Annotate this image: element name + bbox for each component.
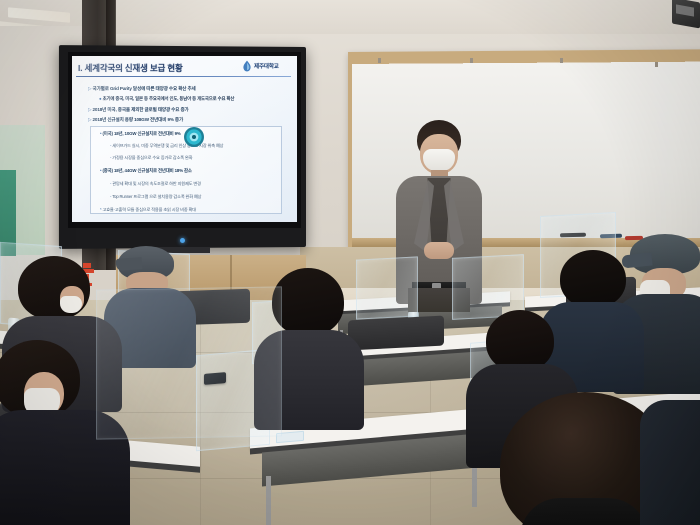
slide-bullet-text: 초기에 중국, 미국, 일본 등 주요국에서 인도, 동남아 등 개도국으로 수… — [103, 96, 235, 101]
bullet-marker-icon: ▷ — [88, 117, 91, 122]
slide-box-item: - 관망세 확대 및 시장의 속도조절로 하반 지원제도 변경 — [110, 181, 201, 187]
bullet-marker-icon: ▷ — [88, 107, 91, 112]
presenter-face-mask — [423, 149, 455, 171]
bullet-marker-icon: ▷ — [88, 86, 91, 91]
slide-box-item: - 세이프가드 실시, 미중 무역분쟁 및 금리 인상 등으로 시장 위축 예상 — [110, 143, 223, 149]
bullet-marker-icon: ● — [99, 96, 102, 101]
classroom-photo: I. 세계각국의 신재생 보급 현황 제주대학교 ▷ 국가별로 Grid Par… — [0, 0, 700, 525]
attendee-hair — [272, 268, 344, 336]
chair-back — [348, 315, 444, 350]
slide-box-item-text: (중국) 18년, 44GW 신규설치로 전년대비 18% 감소 — [102, 168, 191, 173]
slide-box-item-text: 세이프가드 실시, 미중 무역분쟁 및 금리 인상 등으로 시장 위축 예상 — [112, 143, 223, 148]
slide-bullet-text: 2018년 신규설치 용량 108GW 전년대비 9% 증가 — [93, 117, 184, 122]
university-logo: 제주대학교 — [242, 60, 290, 72]
donut-chart-graphic-icon — [183, 126, 205, 148]
slide-box-item-text: 가정용 시장을 중심으로 수요 증가로 감소폭 완화 — [112, 155, 192, 160]
slide-box-item: • (미국) 18년, 10GW 신규설치로 전년대비 9% — [100, 131, 181, 137]
slide-bullet-text: 2018년 미국, 중국을 제외한 글로벌 태양광 수요 증가 — [93, 107, 189, 112]
slide-bullet: ● 초기에 중국, 미국, 일본 등 주요국에서 인도, 동남아 등 개도국으로… — [99, 96, 234, 102]
slide-title-rule — [76, 76, 291, 77]
whiteboard-clip-icon — [470, 58, 473, 63]
attendee-face-mask — [60, 296, 82, 313]
jeju-university-mark-icon — [242, 60, 252, 72]
presenter-hands — [424, 242, 454, 259]
attendee-hair — [486, 310, 554, 372]
acrylic-desk-divider — [356, 256, 418, 319]
slide-box-item: - 가정용 시장을 중심으로 수요 증가로 감소폭 완화 — [110, 155, 192, 161]
whiteboard-clip-icon — [655, 62, 658, 67]
desk-leg — [266, 476, 271, 525]
slide-box-item-text: Top Runner 프로그램 으로 설치용량 감소폭 완화 예상 — [112, 194, 201, 199]
slide-box-item: * 고효율·고출력 모듈 중심으로 적용을 초읽 시장 비중 확대 — [100, 207, 196, 213]
slide-box-item-text: 관망세 확대 및 시장의 속도조절로 하반 지원제도 변경 — [112, 181, 201, 186]
display-power-led-icon[interactable] — [180, 238, 185, 243]
slide-bullet-text: 국가별로 Grid Parity 달성에 따른 태양광 수요 확산 추세 — [93, 86, 196, 91]
slide-bullet: ▷ 2018년 미국, 중국을 제외한 글로벌 태양광 수요 증가 — [88, 107, 189, 113]
acrylic-desk-divider — [96, 286, 282, 439]
slide-box-item-text: 고효율·고출력 모듈 중심으로 적용을 초읽 시장 비중 확대 — [103, 207, 197, 212]
university-logo-text: 제주대학교 — [254, 62, 279, 70]
slide-box-item: - Top Runner 프로그램 으로 설치용량 감소폭 완화 예상 — [110, 194, 201, 200]
whiteboard-clip-icon — [378, 58, 381, 63]
slide-box-item: • (중국) 18년, 44GW 신규설치로 전년대비 18% 감소 — [100, 168, 192, 174]
slide-bullet: ▷ 국가별로 Grid Parity 달성에 따른 태양광 수요 확산 추세 — [88, 86, 196, 92]
attendee-hair — [560, 250, 626, 308]
cap-brim-icon — [116, 257, 143, 271]
slide-bullet: ▷ 2018년 신규설치 용량 108GW 전년대비 9% 증가 — [88, 117, 183, 123]
whiteboard-clip-icon — [560, 58, 563, 63]
attendee-shoulder — [640, 400, 700, 525]
bullet-marker-icon: * — [100, 207, 101, 212]
slide-box-item-text: (미국) 18년, 10GW 신규설치로 전년대비 9% — [102, 131, 180, 136]
